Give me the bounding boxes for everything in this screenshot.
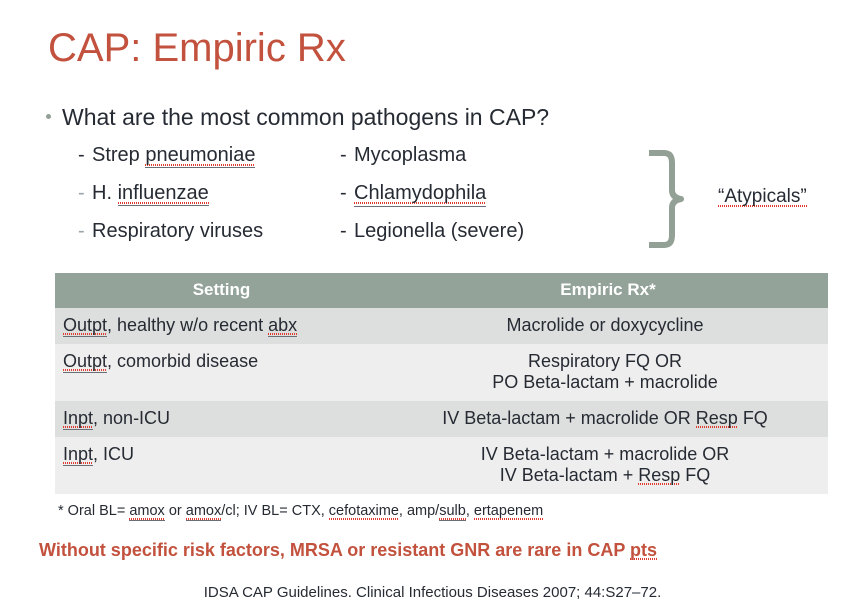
table-row: Inpt, non-ICU IV Beta-lactam + macrolide… [55, 401, 828, 437]
table-row: Outpt, healthy w/o recent abx Macrolide … [55, 308, 828, 344]
rx-line: IV Beta-lactam + macrolide OR Resp FQ [388, 408, 822, 429]
dash-marker: - [78, 220, 92, 243]
pathogen-label-misspelled: influenzae [118, 182, 209, 206]
dash-marker: - [78, 182, 92, 205]
rx-line: IV Beta-lactam + Resp FQ [388, 465, 822, 486]
pathogen-item-mycoplasma: - Mycoplasma [340, 144, 466, 167]
cell-setting: Outpt, healthy w/o recent abx [55, 308, 388, 344]
page-title: CAP: Empiric Rx [48, 26, 346, 71]
table-row: Outpt, comorbid disease Respiratory FQ O… [55, 344, 828, 401]
cell-empiric-rx: Macrolide or doxycycline [388, 308, 828, 344]
pathogen-label: Respiratory viruses [92, 220, 263, 243]
rx-line: Macrolide or doxycycline [388, 315, 822, 336]
question-bullet: What are the most common pathogens in CA… [46, 104, 846, 131]
atypicals-label: “Atypicals” [718, 186, 807, 211]
key-point-statement: Without specific risk factors, MRSA or r… [39, 540, 657, 561]
cell-setting: Outpt, comorbid disease [55, 344, 388, 401]
cell-empiric-rx: IV Beta-lactam + macrolide OR IV Beta-la… [388, 437, 828, 494]
pathogen-label: Chlamydophila [354, 182, 486, 207]
dash-marker: - [340, 182, 354, 205]
citation: IDSA CAP Guidelines. Clinical Infectious… [0, 584, 865, 601]
curly-brace-icon [648, 150, 688, 248]
table-row: Inpt, ICU IV Beta-lactam + macrolide OR … [55, 437, 828, 494]
empiric-rx-table: Setting Empiric Rx* Outpt, healthy w/o r… [55, 273, 828, 494]
rx-line: Respiratory FQ OR [388, 351, 822, 372]
table-footnote: * Oral BL= amox or amox/cl; IV BL= CTX, … [58, 503, 543, 519]
dash-marker: - [78, 144, 92, 167]
dash-marker: - [340, 144, 354, 167]
pathogen-label: Mycoplasma [354, 144, 466, 167]
cell-empiric-rx: Respiratory FQ OR PO Beta-lactam + macro… [388, 344, 828, 401]
cell-setting: Inpt, ICU [55, 437, 388, 494]
pathogen-item-strep: - Strep pneumoniae [78, 144, 340, 167]
pathogen-label-misspelled: pneumoniae [145, 144, 255, 168]
pathogen-item-resp-viruses: - Respiratory viruses [78, 220, 340, 243]
pathogen-label: Legionella (severe) [354, 220, 524, 243]
pathogen-row: - Strep pneumoniae - Mycoplasma [78, 144, 678, 182]
pathogen-row: - Respiratory viruses - Legionella (seve… [78, 220, 678, 258]
table-header-row: Setting Empiric Rx* [55, 273, 828, 308]
bullet-dot-icon [46, 114, 51, 119]
rx-line: PO Beta-lactam + macrolide [388, 372, 822, 393]
pathogen-item-legionella: - Legionella (severe) [340, 220, 524, 243]
column-header-empiric-rx: Empiric Rx* [388, 273, 828, 308]
pathogen-label: H. [92, 182, 118, 204]
cell-setting: Inpt, non-ICU [55, 401, 388, 437]
pathogen-item-hflu: - H. influenzae [78, 182, 340, 205]
pathogen-list: - Strep pneumoniae - Mycoplasma - H. inf… [78, 144, 678, 258]
cell-empiric-rx: IV Beta-lactam + macrolide OR Resp FQ [388, 401, 828, 437]
pathogen-item-chlamydophila: - Chlamydophila [340, 182, 486, 207]
column-header-setting: Setting [55, 273, 388, 308]
dash-marker: - [340, 220, 354, 243]
pathogen-label: Strep [92, 144, 145, 166]
question-bullet-block: What are the most common pathogens in CA… [46, 104, 846, 131]
rx-line: IV Beta-lactam + macrolide OR [388, 444, 822, 465]
pathogen-row: - H. influenzae - Chlamydophila [78, 182, 678, 220]
question-text: What are the most common pathogens in CA… [62, 104, 549, 131]
